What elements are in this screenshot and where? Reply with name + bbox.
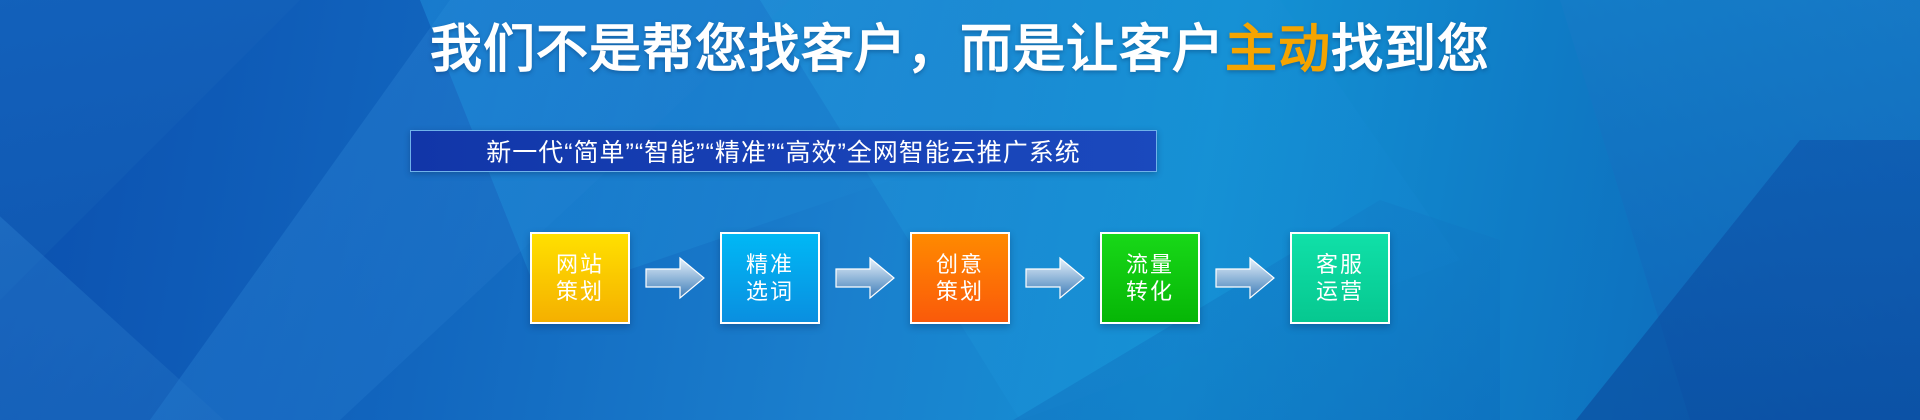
process-flow: 网站 策划 精准 选词 创意 策划 流量: [0, 228, 1920, 328]
step-label-line1: 网站: [556, 251, 604, 279]
process-step-creative-planning[interactable]: 创意 策划: [910, 232, 1010, 324]
step-label-line2: 策划: [556, 278, 604, 306]
step-label-line2: 策划: [936, 278, 984, 306]
arrow-3-icon: [1024, 256, 1086, 300]
step-label-line1: 精准: [746, 251, 794, 279]
step-label-line1: 创意: [936, 251, 984, 279]
process-step-customer-service[interactable]: 客服 运营: [1290, 232, 1390, 324]
step-label-line1: 客服: [1316, 251, 1364, 279]
process-step-traffic-conversion[interactable]: 流量 转化: [1100, 232, 1200, 324]
step-label-line1: 流量: [1126, 251, 1174, 279]
subtitle-bar: 新一代“简单”“智能”“精准”“高效”全网智能云推广系统: [410, 130, 1157, 172]
headline: 我们不是帮您找客户，而是让客户主动找到您: [0, 22, 1920, 79]
step-label-line2: 转化: [1126, 278, 1174, 306]
process-step-keyword-selection[interactable]: 精准 选词: [720, 232, 820, 324]
subtitle-text: 新一代“简单”“智能”“精准”“高效”全网智能云推广系统: [486, 133, 1081, 169]
process-step-website-planning[interactable]: 网站 策划: [530, 232, 630, 324]
step-label-line2: 选词: [746, 278, 794, 306]
arrow-1-icon: [644, 256, 706, 300]
promo-banner: 我们不是帮您找客户，而是让客户主动找到您 新一代“简单”“智能”“精准”“高效”…: [0, 0, 1920, 420]
headline-part-1: 我们不是帮您找客户，而是让客户: [430, 21, 1225, 79]
arrow-4-icon: [1214, 256, 1276, 300]
arrow-2-icon: [834, 256, 896, 300]
step-label-line2: 运营: [1316, 278, 1364, 306]
headline-highlight: 主动: [1225, 21, 1331, 79]
headline-part-2: 找到您: [1331, 21, 1490, 79]
